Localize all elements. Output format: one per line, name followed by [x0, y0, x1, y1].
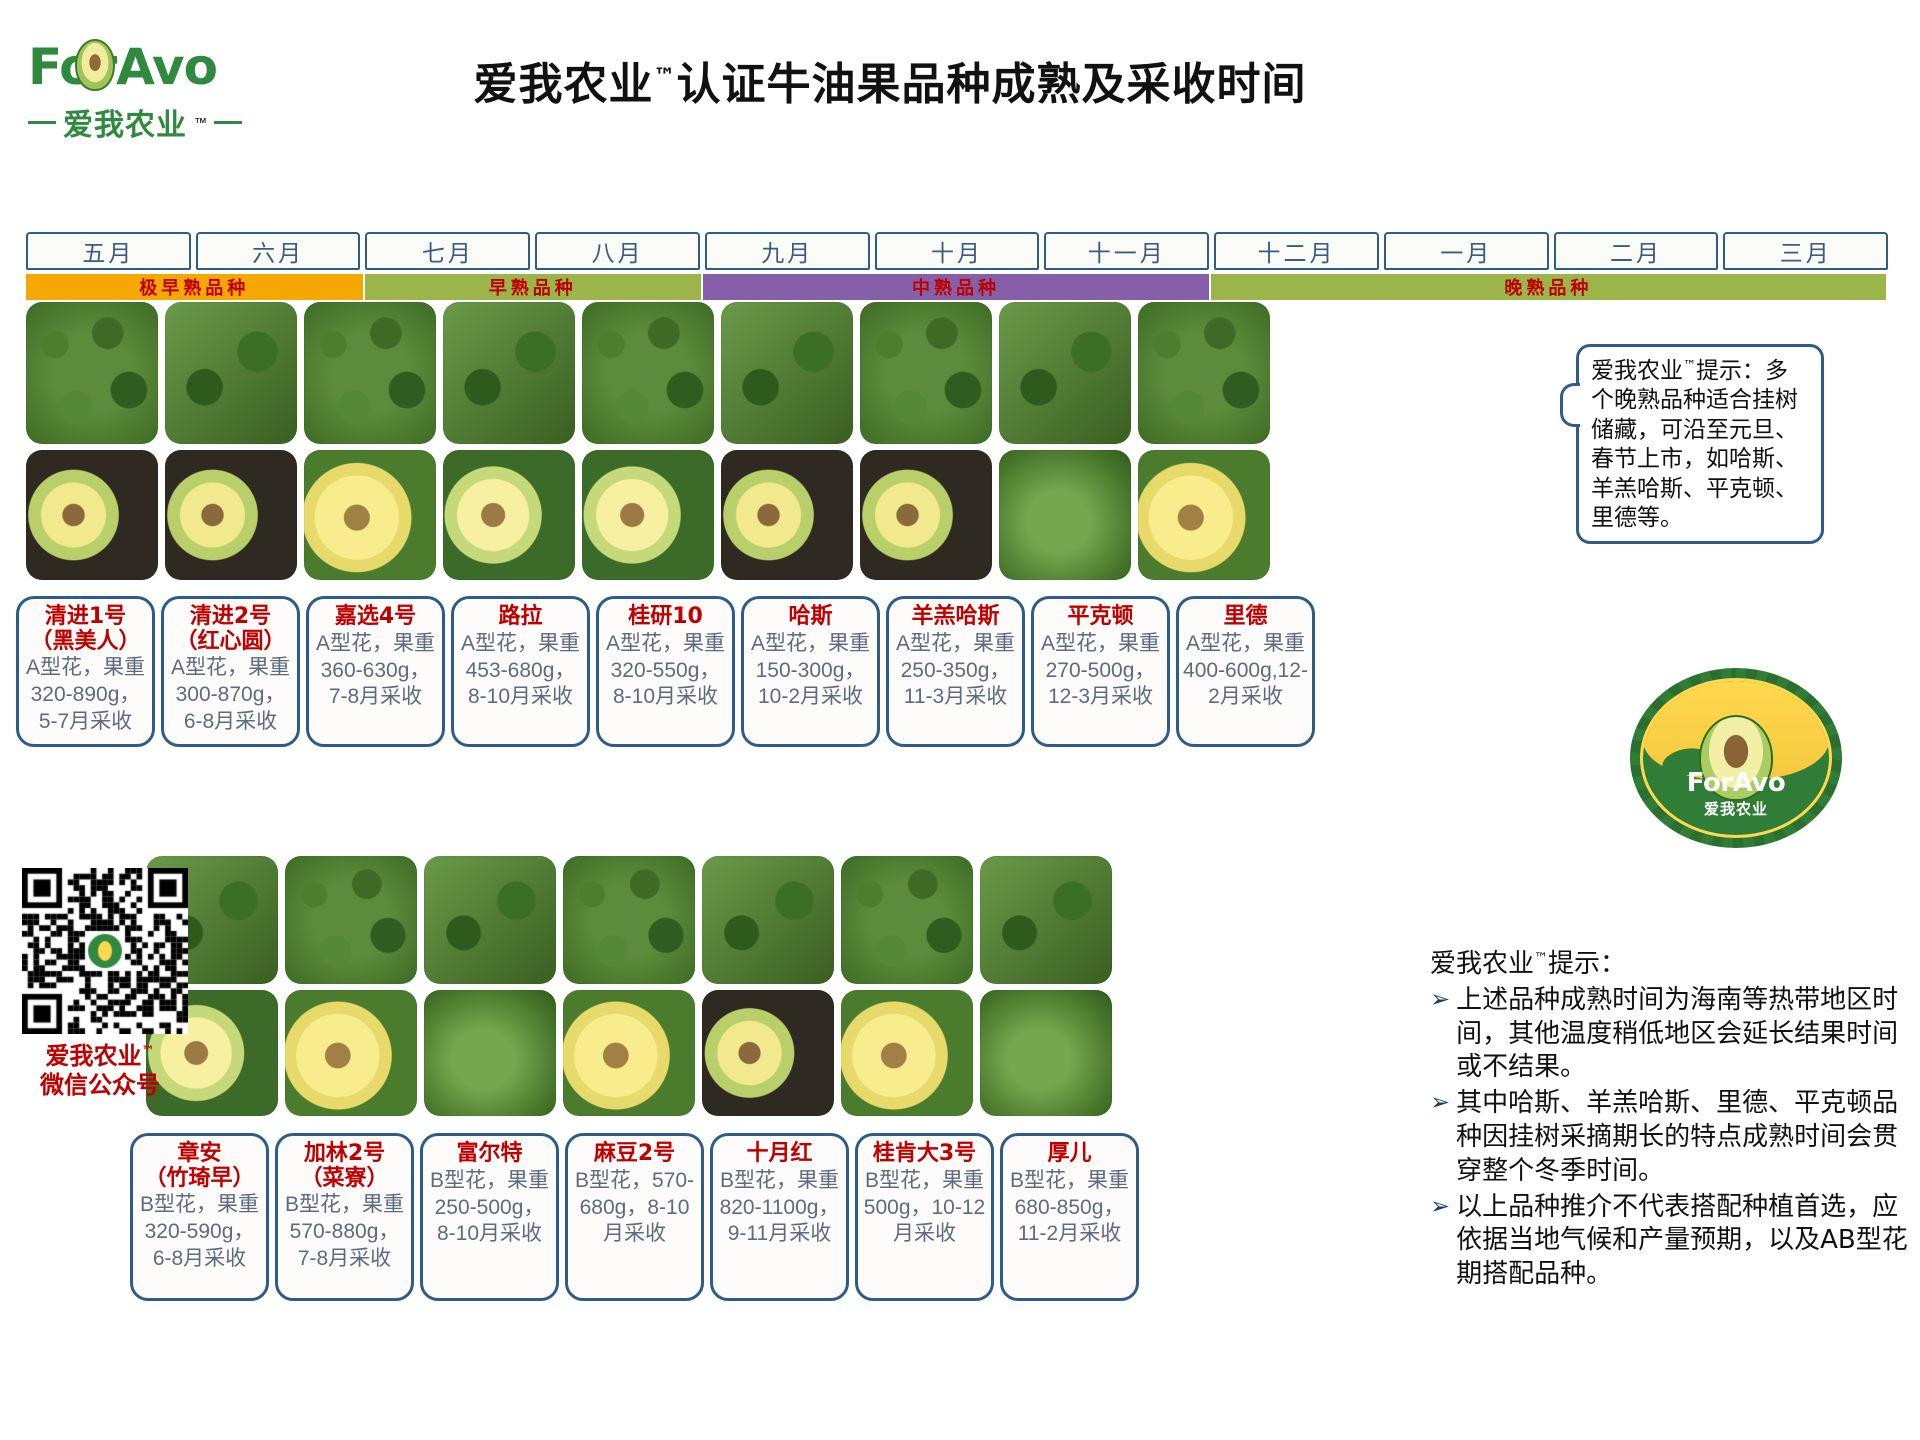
month-cell: 十一月 — [1044, 232, 1209, 270]
row-a-fruit-photos — [26, 450, 1270, 580]
arrow-bullet-icon: ➢ — [1430, 1191, 1450, 1292]
variety-card: 富尔特B型花，果重250-500g，8-10月采收 — [420, 1133, 559, 1301]
whole-and-cut-avocado-fuerte — [424, 990, 556, 1116]
variety-name: 路拉 — [498, 605, 542, 630]
variety-name: 厚儿 — [1047, 1142, 1091, 1167]
logo-chinese-name: 爱我农业 — [63, 100, 187, 144]
logo-subtitle-row: 爱我农业™ — [28, 100, 288, 144]
variety-description: A型花，果重360-630g，7-8月采收 — [313, 631, 438, 712]
avocado-on-tree-dark — [26, 302, 158, 444]
cut-avocado-black-beauty — [26, 450, 158, 580]
tip-box-tm: ™ — [1683, 358, 1696, 373]
variety-alias: （竹琦早） — [144, 1167, 254, 1192]
tip-box-head-suffix: 提示： — [1696, 358, 1765, 384]
note-item: ➢其中哈斯、羊羔哈斯、里德、平克顿品种因挂树采摘期长的特点成熟时间会贯穿整个冬季… — [1430, 1087, 1908, 1188]
variety-card: 嘉选4号A型花，果重360-630g，7-8月采收 — [306, 596, 445, 747]
row-b-fruit-photos — [146, 990, 1112, 1116]
whole-and-cut-avocado-lula — [443, 450, 575, 580]
tip-box-tail-mask — [1576, 387, 1584, 423]
variety-card: 清进1号（黑美人）A型花，果重320-890g，5-7月采收 — [16, 596, 155, 747]
avocado-on-tree-guikenda3 — [841, 856, 973, 984]
whole-and-cut-avocado-guiyan10 — [582, 450, 714, 580]
cut-avocado-october-red-pair — [702, 990, 834, 1116]
qr-caption-line1: 爱我农业 — [46, 1042, 142, 1070]
variety-name: 平克顿 — [1067, 605, 1133, 630]
qr-canvas — [22, 868, 188, 1034]
variety-description: A型花，果重320-550g，8-10月采收 — [603, 631, 728, 712]
variety-name: 富尔特 — [456, 1142, 522, 1167]
arrow-bullet-icon: ➢ — [1430, 1087, 1450, 1188]
month-cell: 二月 — [1554, 232, 1719, 270]
avocado-on-tree-late-variety — [999, 302, 1131, 444]
avocado-on-tree-hanging-pair — [721, 302, 853, 444]
variety-name: 清进2号 — [190, 605, 271, 630]
maturity-band: 极早熟品种 — [26, 274, 365, 300]
cut-avocado-hass — [721, 450, 853, 580]
variety-name: 十月红 — [746, 1142, 812, 1167]
variety-name: 加林2号 — [304, 1142, 385, 1167]
month-cell: 十月 — [875, 232, 1040, 270]
qr-caption-tm: ™ — [142, 1044, 155, 1059]
notes-head-suffix: 提示： — [1548, 949, 1626, 979]
variety-description: B型花，果重320-590g，6-8月采收 — [137, 1192, 262, 1273]
month-cell: 一月 — [1384, 232, 1549, 270]
notes-list: ➢上述品种成熟时间为海南等热带地区时间，其他温度稍低地区会延长结果时间或不结果。… — [1430, 984, 1908, 1292]
qr-caption-line2: 微信公众号 — [40, 1071, 160, 1099]
wechat-qr-code[interactable] — [22, 868, 188, 1034]
page-title-tm: ™ — [654, 64, 677, 89]
avocado-on-tree-madou2 — [563, 856, 695, 984]
variety-description: A型花，果重250-350g，11-3月采收 — [893, 631, 1018, 712]
variety-alias: （菜寮） — [300, 1167, 388, 1192]
notes-head-tm: ™ — [1534, 950, 1548, 966]
foravo-logo: ForAvo 爱我农业™ — [28, 38, 288, 138]
page-title: 爱我农业™认证牛油果品种成熟及采收时间 — [330, 48, 1450, 112]
harvest-timeline: 五月六月七月八月九月十月十一月十二月一月二月三月 极早熟品种早熟品种中熟品种晚熟… — [26, 232, 1888, 300]
cut-avocado-red-heart-round — [165, 450, 297, 580]
month-header-row: 五月六月七月八月九月十月十一月十二月一月二月三月 — [26, 232, 1888, 270]
whole-avocado-pinkerton-pile — [999, 450, 1131, 580]
variety-card: 平克顿A型花，果重270-500g，12-3月采收 — [1031, 596, 1170, 747]
variety-description: B型花，果重250-500g，8-10月采收 — [427, 1168, 552, 1249]
month-cell: 五月 — [26, 232, 191, 270]
variety-description: A型花，果重150-300g，10-2月采收 — [748, 631, 873, 712]
variety-name: 哈斯 — [788, 605, 832, 630]
variety-card: 麻豆2号B型花，570-680g，8-10月采收 — [565, 1133, 704, 1301]
variety-card: 加林2号（菜寮）B型花，果重570-880g，7-8月采收 — [275, 1133, 414, 1301]
variety-card: 章安（竹琦早）B型花，果重320-590g，6-8月采收 — [130, 1133, 269, 1301]
variety-card: 桂肯大3号B型花，果重500g，10-12月采收 — [855, 1133, 994, 1301]
variety-card: 清进2号（红心圆）A型花，果重300-870g，6-8月采收 — [161, 596, 300, 747]
variety-card: 厚儿B型花，果重680-850g，11-2月采收 — [1000, 1133, 1139, 1301]
infographic-root: ForAvo 爱我农业™ 爱我农业™认证牛油果品种成熟及采收时间 五月六月七月八… — [0, 0, 1920, 1440]
variety-alias: （黑美人） — [30, 630, 140, 655]
maturity-band-row: 极早熟品种早熟品种中熟品种晚熟品种 — [26, 274, 1888, 300]
note-text: 其中哈斯、羊羔哈斯、里德、平克顿品种因挂树采摘期长的特点成熟时间会贯穿整个冬季时… — [1456, 1087, 1908, 1188]
note-item: ➢上述品种成熟时间为海南等热带地区时间，其他温度稍低地区会延长结果时间或不结果。 — [1430, 984, 1908, 1085]
variety-card: 桂研10A型花，果重320-550g，8-10月采收 — [596, 596, 735, 747]
variety-name: 清进1号 — [45, 605, 126, 630]
variety-description: A型花，果重300-870g，6-8月采收 — [168, 655, 293, 736]
maturity-band: 中熟品种 — [703, 274, 1211, 300]
footer-notes: 爱我农业™提示： ➢上述品种成熟时间为海南等热带地区时间，其他温度稍低地区会延长… — [1430, 948, 1908, 1292]
avocado-orchard-canopy — [443, 302, 575, 444]
notes-head-brand: 爱我农业 — [1430, 949, 1534, 979]
whole-and-cut-avocado-houer-scale — [980, 990, 1112, 1116]
avocado-on-tree-fuerte — [424, 856, 556, 984]
variety-description: A型花，果重320-890g，5-7月采收 — [23, 655, 148, 736]
seal-wordmark: ForAvo — [1687, 768, 1785, 798]
avocado-on-tree-houer — [980, 856, 1112, 984]
seal-chinese-name: 爱我农业 — [1704, 798, 1768, 819]
month-cell: 六月 — [196, 232, 361, 270]
variety-card: 路拉A型花，果重453-680g，8-10月采收 — [451, 596, 590, 747]
month-cell: 九月 — [705, 232, 870, 270]
note-text: 以上品种推介不代表搭配种植首选，应依据当地气候和产量预期，以及AB型花期搭配品种… — [1456, 1191, 1908, 1292]
month-cell: 三月 — [1723, 232, 1888, 270]
variety-description: A型花，果重400-600g,12-2月采收 — [1183, 631, 1308, 712]
row-b-variety-cards: 章安（竹琦早）B型花，果重320-590g，6-8月采收加林2号（菜寮）B型花，… — [130, 1133, 1139, 1301]
avocado-on-tree-reed — [1138, 302, 1270, 444]
late-variety-tip-box: 爱我农业™提示：多个晚熟品种适合挂树储藏，可沿至元旦、春节上市，如哈斯、羊羔哈斯… — [1576, 344, 1824, 544]
logo-divider-left — [28, 121, 56, 124]
avocado-on-tree-jialin2 — [285, 856, 417, 984]
avocado-on-tree-single-green — [165, 302, 297, 444]
page-title-part2: 认证牛油果品种成熟及采收时间 — [677, 59, 1307, 110]
notes-head: 爱我农业™提示： — [1430, 948, 1908, 982]
row-a-tree-photos — [26, 302, 1270, 444]
maturity-band: 晚熟品种 — [1211, 274, 1888, 300]
avocado-on-tree-small-green — [304, 302, 436, 444]
variety-description: B型花，果重680-850g，11-2月采收 — [1007, 1168, 1132, 1249]
variety-name: 麻豆2号 — [594, 1142, 675, 1167]
cut-avocado-jialin2 — [285, 990, 417, 1116]
row-a-variety-cards: 清进1号（黑美人）A型花，果重320-890g，5-7月采收清进2号（红心圆）A… — [16, 596, 1315, 747]
avocado-on-tree-pear-shaped — [582, 302, 714, 444]
variety-description: A型花，果重270-500g，12-3月采收 — [1038, 631, 1163, 712]
avocado-icon — [75, 39, 115, 91]
logo-tm-mark: ™ — [194, 115, 207, 130]
variety-card: 羊羔哈斯A型花，果重250-350g，11-3月采收 — [886, 596, 1025, 747]
variety-alias: （红心圆） — [175, 630, 285, 655]
variety-name: 桂肯大3号 — [873, 1142, 976, 1167]
variety-card: 里德A型花，果重400-600g,12-2月采收 — [1176, 596, 1315, 747]
variety-description: B型花，果重500g，10-12月采收 — [862, 1168, 987, 1249]
cut-avocado-reed — [1138, 450, 1270, 580]
cut-avocado-lamb-hass — [860, 450, 992, 580]
variety-name: 羊羔哈斯 — [911, 605, 999, 630]
logo-text: ForAvo — [28, 38, 217, 96]
avocado-on-tree-cluster — [860, 302, 992, 444]
variety-name: 章安 — [177, 1142, 221, 1167]
variety-name: 桂研10 — [628, 605, 703, 630]
variety-description: B型花，果重820-1100g，9-11月采收 — [717, 1168, 842, 1249]
variety-description: B型花，果重570-880g，7-8月采收 — [282, 1192, 407, 1273]
cut-avocado-madou2-board — [563, 990, 695, 1116]
seal-inner-disc: ForAvo 爱我农业 — [1640, 678, 1832, 838]
variety-description: B型花，570-680g，8-10月采收 — [572, 1168, 697, 1249]
note-item: ➢以上品种推介不代表搭配种植首选，应依据当地气候和产量预期，以及AB型花期搭配品… — [1430, 1191, 1908, 1292]
variety-card: 哈斯A型花，果重150-300g，10-2月采收 — [741, 596, 880, 747]
logo-divider-right — [214, 121, 242, 124]
note-text: 上述品种成熟时间为海南等热带地区时间，其他温度稍低地区会延长结果时间或不结果。 — [1456, 984, 1908, 1085]
foravo-seal-badge: ForAvo 爱我农业 — [1630, 668, 1842, 848]
variety-name: 嘉选4号 — [335, 605, 416, 630]
logo-wordmark: ForAvo — [28, 38, 288, 98]
variety-name: 里德 — [1223, 605, 1267, 630]
arrow-bullet-icon: ➢ — [1430, 984, 1450, 1085]
cut-avocado-guikenda3 — [841, 990, 973, 1116]
page-title-part1: 爱我农业 — [474, 59, 654, 110]
row-b-tree-photos — [146, 856, 1112, 984]
qr-caption: 爱我农业™ 微信公众号 — [10, 1042, 190, 1100]
month-cell: 八月 — [535, 232, 700, 270]
month-cell: 七月 — [365, 232, 530, 270]
avocado-on-tree-october-red — [702, 856, 834, 984]
month-cell: 十二月 — [1214, 232, 1379, 270]
tip-box-head: 爱我农业 — [1591, 358, 1683, 384]
variety-card: 十月红B型花，果重820-1100g，9-11月采收 — [710, 1133, 849, 1301]
cut-avocado-jiaxuan-pair — [304, 450, 436, 580]
variety-description: A型花，果重453-680g，8-10月采收 — [458, 631, 583, 712]
maturity-band: 早熟品种 — [365, 274, 704, 300]
